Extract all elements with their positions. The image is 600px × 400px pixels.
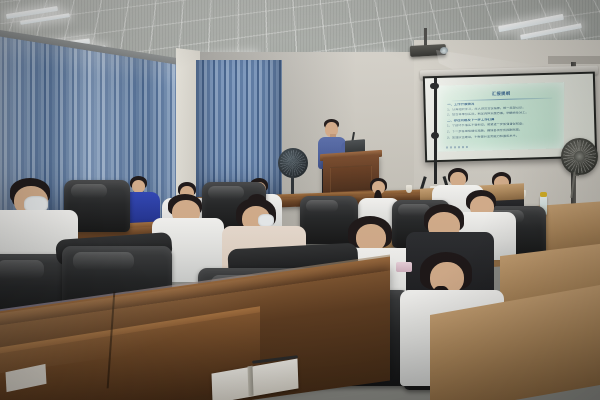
tripod-knob xyxy=(431,132,439,139)
bottle-cap xyxy=(540,192,547,197)
projector-mount xyxy=(424,28,427,46)
slide-footer-marks xyxy=(446,146,468,149)
phone xyxy=(396,262,412,272)
conference-room-photo: 汇报提纲 一、工作开展情况 1、认真组织学习，深入领会会议精神，统一思想认识。 … xyxy=(0,0,600,400)
tripod-knob xyxy=(430,83,439,89)
tripod-stand xyxy=(434,78,437,184)
paper-cup xyxy=(406,185,412,193)
slide-title: 汇报提纲 xyxy=(464,90,538,98)
podium-front-panel xyxy=(330,165,372,193)
notebook-spine xyxy=(247,366,253,397)
fan-cage xyxy=(280,150,306,176)
slide-line: 3、加强队伍建设，不断提升业务能力和服务水平。 xyxy=(447,133,557,140)
fan-hub xyxy=(574,151,585,162)
presentation-slide: 汇报提纲 一、工作开展情况 1、认真组织学习，深入领会会议精神，统一思想认识。 … xyxy=(438,82,564,152)
